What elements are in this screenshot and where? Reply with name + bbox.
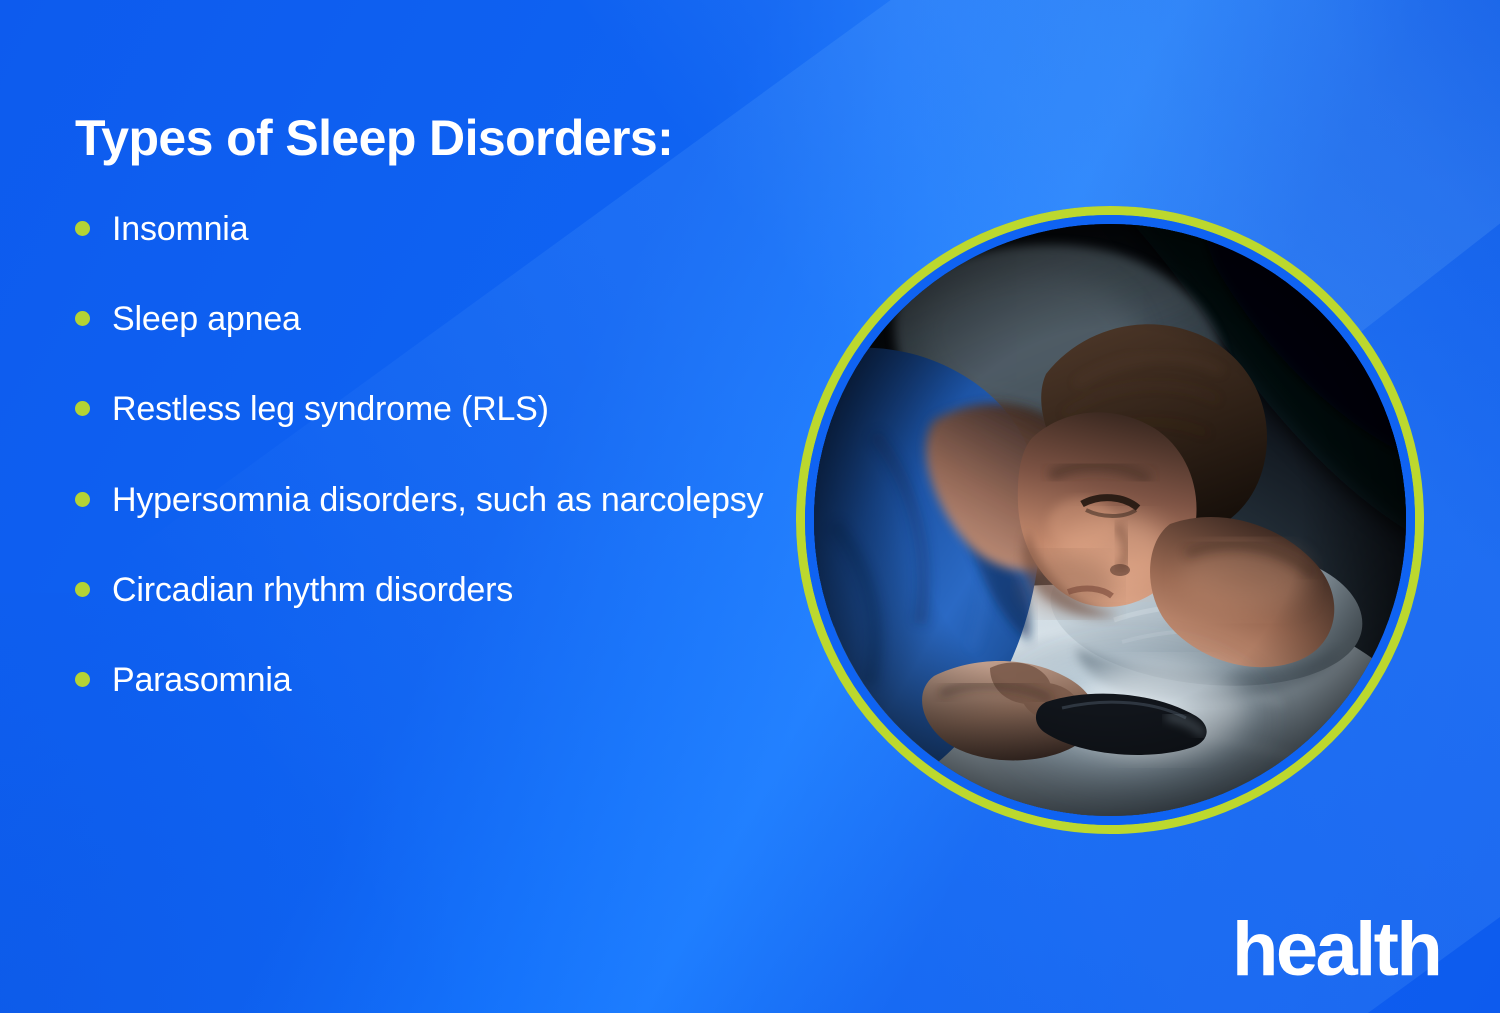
list-item-label: Parasomnia: [112, 658, 291, 702]
list-item-label: Insomnia: [112, 207, 248, 251]
bullet-dot-icon: [75, 672, 90, 687]
list-item: Hypersomnia disorders, such as narcoleps…: [75, 478, 795, 522]
infographic-canvas: Types of Sleep Disorders: Insomnia Sleep…: [0, 0, 1500, 1013]
list-item: Sleep apnea: [75, 297, 795, 341]
list-item-label: Hypersomnia disorders, such as narcoleps…: [112, 478, 763, 522]
list-item: Restless leg syndrome (RLS): [75, 387, 795, 431]
content-column: Types of Sleep Disorders: Insomnia Sleep…: [75, 112, 795, 702]
photo-circle: [796, 206, 1424, 834]
list-item-label: Circadian rhythm disorders: [112, 568, 513, 612]
bullet-dot-icon: [75, 582, 90, 597]
photo-image: [814, 224, 1406, 816]
sleep-disorders-list: Insomnia Sleep apnea Restless leg syndro…: [75, 207, 795, 702]
bullet-dot-icon: [75, 492, 90, 507]
list-item: Circadian rhythm disorders: [75, 568, 795, 612]
bullet-dot-icon: [75, 221, 90, 236]
list-item-label: Restless leg syndrome (RLS): [112, 387, 549, 431]
bullet-dot-icon: [75, 311, 90, 326]
health-logo: health: [1232, 912, 1440, 988]
list-item-label: Sleep apnea: [112, 297, 301, 341]
list-item: Parasomnia: [75, 658, 795, 702]
page-title: Types of Sleep Disorders:: [75, 112, 795, 165]
bullet-dot-icon: [75, 401, 90, 416]
list-item: Insomnia: [75, 207, 795, 251]
